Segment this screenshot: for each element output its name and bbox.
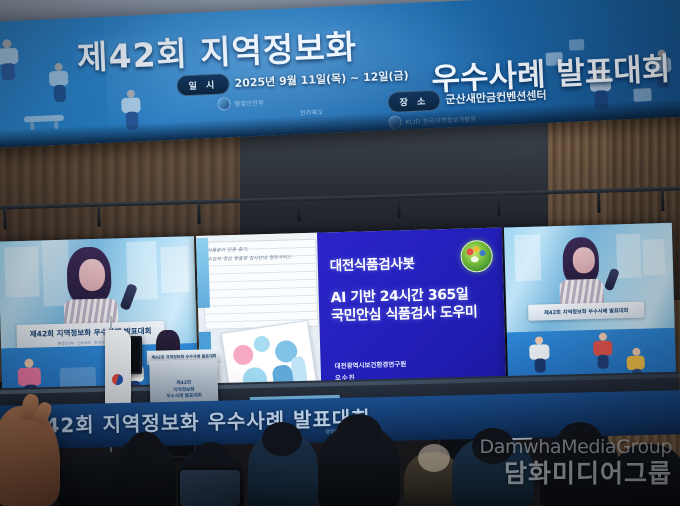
truss-drop — [197, 202, 201, 224]
presenter-face — [572, 247, 595, 274]
phone-in-hand — [180, 470, 240, 506]
audience-head — [194, 442, 228, 470]
audience-head — [472, 428, 514, 464]
banner-illustration-left — [0, 38, 32, 82]
truss-drop — [297, 199, 301, 221]
backdrop-block — [4, 246, 39, 297]
slide-note-line-1: 식품분야 민원 증가, — [207, 247, 249, 254]
audience-head — [128, 432, 162, 462]
truss-drop — [3, 207, 7, 229]
slide-subtitle-line2: 국민안심 식품검사 도우미 — [331, 304, 478, 324]
sponsor-name: 전라북도 — [300, 107, 324, 117]
slide-org: 대전광역시보건환경연구원 — [334, 360, 406, 371]
truss-drop — [397, 196, 401, 218]
backdrop-block — [616, 234, 641, 279]
mini-illustration — [527, 336, 554, 373]
conference-hall-photo: 제42회 지역정보화 우수사례 발표대회 일 시 2025년 9월 11일(목)… — [0, 0, 680, 506]
banner-place-value: 군산새만금컨벤션센터 — [445, 87, 547, 108]
stage-front-banner-text: 제42회 지역정보화 우수사례 발표대회 — [26, 402, 371, 439]
truss-drop — [597, 191, 601, 213]
taegeuk-icon — [110, 372, 125, 387]
slide-left-strip — [196, 238, 210, 308]
led-caption-title: 제42회 지역정보화 우수사례 발표대회 — [544, 307, 628, 316]
slide-heading: 대전식품검사봇 — [329, 252, 414, 274]
sponsor-logo-0: 행정안전부 — [217, 96, 264, 111]
banner-illustration-left-2 — [43, 62, 79, 104]
backdrop-block — [642, 239, 665, 276]
sponsor-name: KLID 한국지역정보개발원 — [405, 114, 476, 126]
mini-illustration — [591, 332, 616, 369]
backdrop-block — [514, 234, 541, 281]
banner-deco-square — [633, 88, 652, 102]
truss-drop — [661, 189, 665, 211]
sponsor-name: 행정안전부 — [234, 98, 264, 108]
government-seal-icon — [217, 97, 231, 111]
sponsor-logo-2: KLID 한국지역정보개발원 — [388, 112, 476, 129]
led-panel-right: 제42회 지역정보화 우수사례 발표대회 — [504, 223, 677, 392]
audience-head — [418, 444, 450, 472]
klid-logo-icon — [388, 115, 402, 129]
backdrop-block — [42, 240, 70, 307]
presenter-face — [79, 259, 106, 292]
banner-illustration-desk — [23, 105, 66, 131]
slide-subtitle-line1: AI 기반 24시간 365일 — [330, 286, 468, 306]
audience-head — [558, 422, 602, 460]
truss-drop — [97, 205, 101, 227]
audience-head — [262, 422, 302, 456]
backdrop-block — [160, 246, 189, 293]
truss-drop — [497, 194, 501, 216]
sponsor-logo-1: 전라북도 — [300, 107, 324, 117]
institute-emblem-icon — [460, 240, 493, 273]
banner-date-chip: 일 시 — [176, 73, 230, 96]
podium-line-3: 우수사례 발표대회 — [166, 394, 202, 401]
led-caption-bar-right: 제42회 지역정보화 우수사례 발표대회 — [528, 302, 644, 321]
banner-illustration-left-3 — [115, 89, 153, 131]
audience-member — [612, 444, 680, 506]
audience-head — [336, 414, 382, 454]
banner-place-chip: 장 소 — [387, 90, 441, 113]
